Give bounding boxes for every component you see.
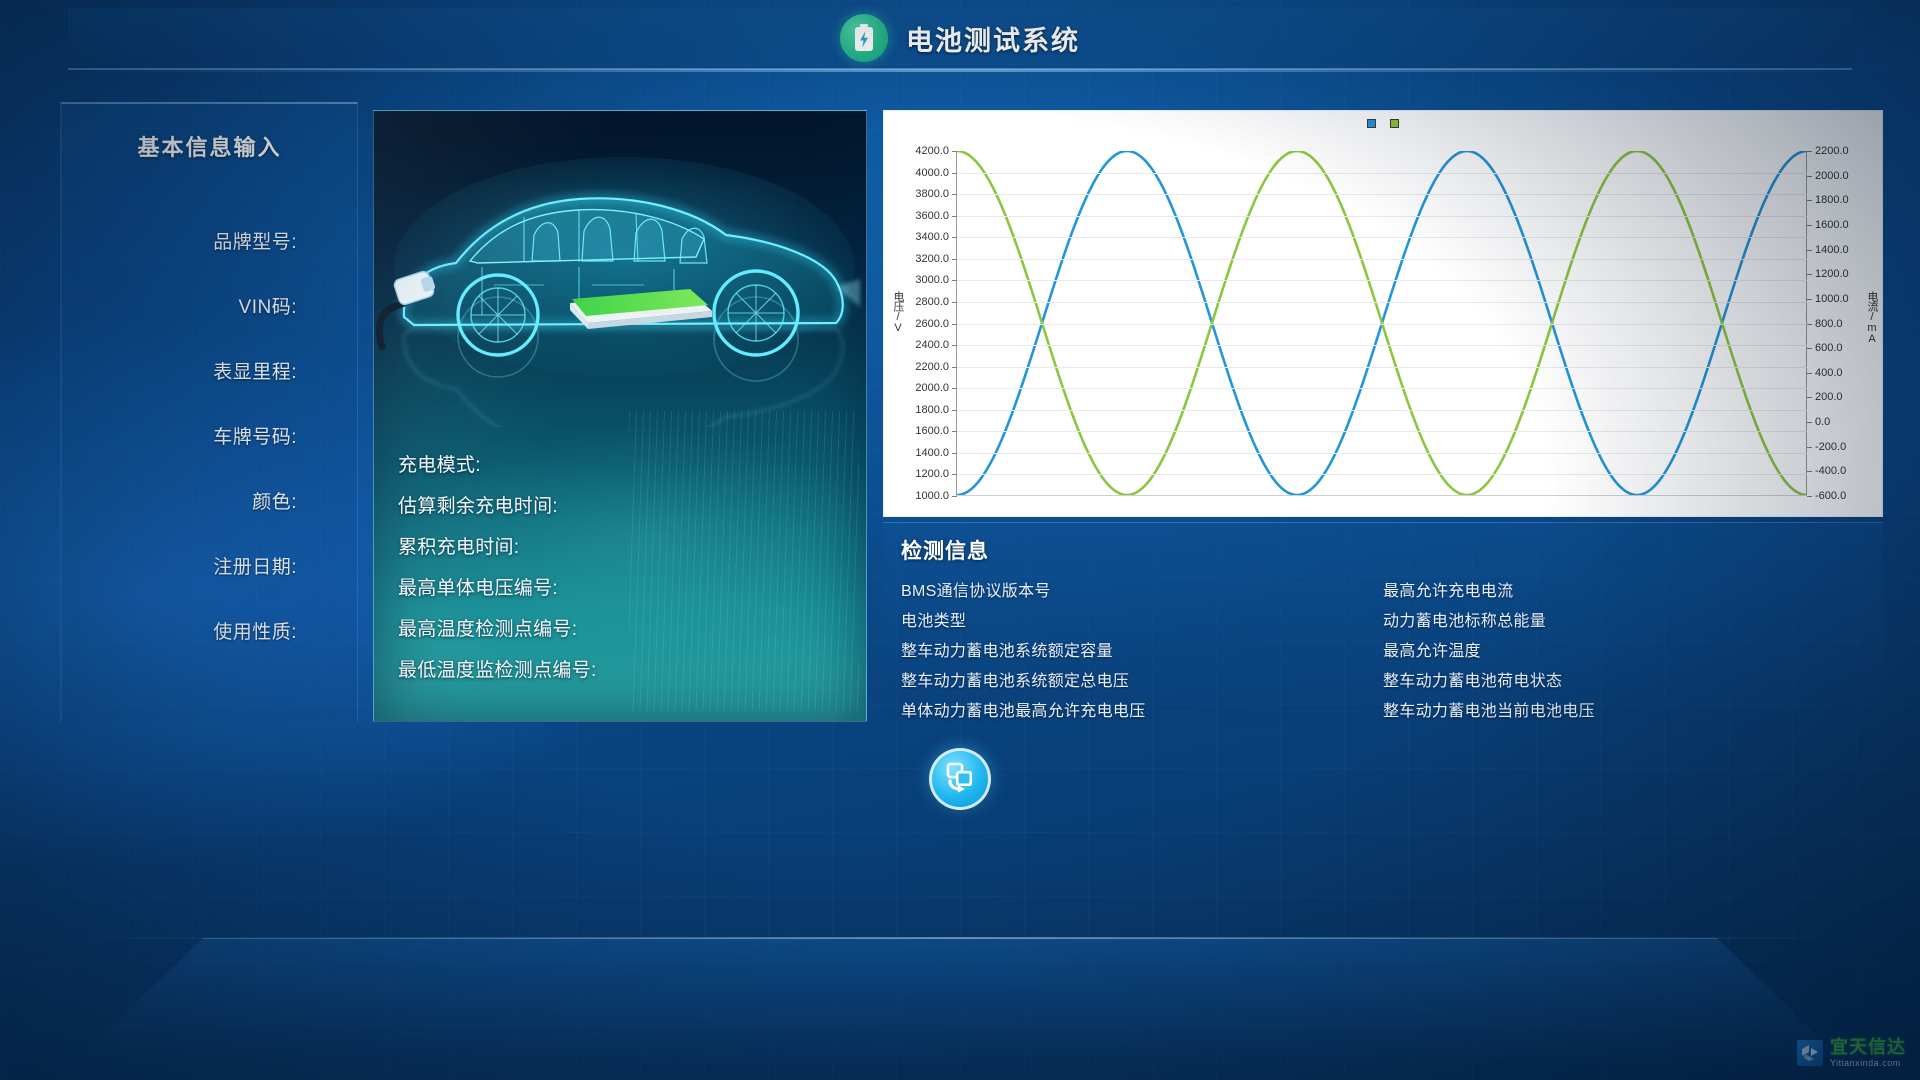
chart-right-tick-label: 1800.0 (1815, 194, 1849, 206)
info-item-max-cell-charge-voltage[interactable]: 单体动力蓄电池最高允许充电电压 (901, 697, 1383, 727)
chart-tick-mark (1807, 422, 1812, 423)
field-label-cumulative-charge-time: 累积充电时间: (398, 532, 519, 559)
chart-left-tick-label: 2800.0 (915, 296, 949, 308)
chart-gridline (957, 216, 1807, 217)
deck-highlight-line (65, 937, 1855, 939)
field-label-remaining-charge-time: 估算剩余充电时间: (398, 491, 558, 518)
chart-tick-mark (1807, 397, 1812, 398)
chart-gridline (957, 474, 1807, 475)
chart-tick-mark (1807, 225, 1812, 226)
chart-right-tick-label: 200.0 (1815, 391, 1843, 403)
detection-info-title: 检测信息 (901, 535, 1865, 565)
field-label-vin: VIN码: (239, 292, 297, 319)
chart-right-tick-label: 400.0 (1815, 367, 1843, 379)
field-label-brand-model: 品牌型号: (213, 227, 297, 254)
field-row-brand-model[interactable]: 品牌型号: (62, 208, 297, 273)
chart-gridline (957, 194, 1807, 195)
chart-left-tick-label: 3400.0 (915, 231, 949, 243)
field-row-registration-date[interactable]: 注册日期: (62, 533, 297, 598)
chart-right-tick-label: -600.0 (1815, 490, 1846, 502)
info-item-state-of-charge[interactable]: 整车动力蓄电池荷电状态 (1383, 667, 1865, 697)
chart-plot-wrapper: 电压/V 电流/mA 4200.04000.03800.03600.03400.… (884, 141, 1882, 510)
switch-view-button[interactable] (929, 748, 991, 810)
basic-info-panel: 基本信息输入 品牌型号: VIN码: 表显里程: 车牌号码: 颜色: 注册日期:… (60, 102, 358, 722)
chart-tick-mark (952, 496, 957, 497)
field-label-max-cell-voltage-id: 最高单体电压编号: (398, 573, 558, 600)
chart-left-tick-label: 2000.0 (915, 382, 949, 394)
info-item-rated-total-voltage[interactable]: 整车动力蓄电池系统额定总电压 (901, 667, 1383, 697)
field-label-plate-number: 车牌号码: (213, 422, 297, 449)
chart-right-tick-label: 1400.0 (1815, 244, 1849, 256)
field-label-color: 颜色: (252, 487, 297, 514)
chart-plot-area[interactable] (956, 151, 1807, 496)
chart-legend[interactable] (1367, 119, 1399, 128)
field-label-charge-mode: 充电模式: (398, 450, 481, 477)
basic-info-field-list: 品牌型号: VIN码: 表显里程: 车牌号码: 颜色: 注册日期: 使用性质: (62, 208, 357, 663)
chart-left-tick-label: 3600.0 (915, 210, 949, 222)
chart-tick-mark (1807, 299, 1812, 300)
chart-left-tick-label: 1800.0 (915, 404, 949, 416)
chart-tick-mark (1807, 447, 1812, 448)
detection-info-panel: 检测信息 BMS通信协议版本号 电池类型 整车动力蓄电池系统额定容量 整车动力蓄… (883, 522, 1883, 722)
legend-swatch-blue[interactable] (1367, 119, 1376, 128)
field-label-usage-type: 使用性质: (213, 617, 297, 644)
chart-tick-mark (1807, 274, 1812, 275)
field-label-registration-date: 注册日期: (213, 552, 297, 579)
chart-gridline (957, 367, 1807, 368)
chart-gridline (957, 173, 1807, 174)
chart-left-tick-label: 4000.0 (915, 167, 949, 179)
chart-left-tick-label: 3800.0 (915, 188, 949, 200)
chart-tick-mark (1807, 324, 1812, 325)
chart-gridline (957, 237, 1807, 238)
chart-right-tick-label: 1600.0 (1815, 219, 1849, 231)
chart-tick-mark (1807, 200, 1812, 201)
voltage-current-chart: 电压/V 电流/mA 4200.04000.03800.03600.03400.… (883, 110, 1883, 517)
chart-left-tick-label: 2600.0 (915, 318, 949, 330)
bottom-deck (0, 850, 1920, 1080)
switch-windows-icon (943, 760, 977, 799)
chart-gridline (957, 345, 1807, 346)
field-label-min-temp-probe-id: 最低温度监检测点编号: (398, 655, 597, 682)
yitianxinda-logo-icon (1797, 1040, 1823, 1066)
chart-right-tick-label: 800.0 (1815, 318, 1843, 330)
chart-gridline (957, 259, 1807, 260)
chart-gridline (957, 302, 1807, 303)
field-label-odometer: 表显里程: (213, 357, 297, 384)
battery-bolt-icon (840, 14, 888, 62)
chart-right-axis-title: 电流/mA (1864, 291, 1880, 344)
watermark: 宜天信达 Yitianxinda.com (1797, 1038, 1906, 1068)
chart-right-tick-label: 2000.0 (1815, 170, 1849, 182)
chart-right-tick-label: -400.0 (1815, 465, 1846, 477)
chart-right-tick-label: 2200.0 (1815, 145, 1849, 157)
chart-left-tick-label: 2200.0 (915, 361, 949, 373)
chart-left-tick-label: 1000.0 (915, 490, 949, 502)
field-row-max-temp-probe-id[interactable]: 最高温度检测点编号: (398, 607, 854, 648)
chart-gridline (957, 280, 1807, 281)
detection-info-left-column: BMS通信协议版本号 电池类型 整车动力蓄电池系统额定容量 整车动力蓄电池系统额… (901, 577, 1383, 727)
chart-tick-mark (952, 151, 957, 152)
chart-tick-mark (1807, 250, 1812, 251)
chart-gridline (957, 388, 1807, 389)
info-item-max-charge-current[interactable]: 最高允许充电电流 (1383, 577, 1865, 607)
info-item-rated-capacity[interactable]: 整车动力蓄电池系统额定容量 (901, 637, 1383, 667)
chart-tick-mark (1807, 496, 1812, 497)
app-header: 电池测试系统 (68, 8, 1852, 70)
chart-tick-mark (1807, 471, 1812, 472)
field-row-usage-type[interactable]: 使用性质: (62, 598, 297, 663)
detection-info-right-column: 最高允许充电电流 动力蓄电池标称总能量 最高允许温度 整车动力蓄电池荷电状态 整… (1383, 577, 1865, 727)
field-row-charge-mode[interactable]: 充电模式: (398, 443, 854, 484)
chart-left-axis-title: 电压/V (890, 291, 906, 333)
watermark-chinese-text: 宜天信达 (1830, 1038, 1906, 1056)
basic-info-title: 基本信息输入 (62, 130, 357, 162)
field-row-vin[interactable]: VIN码: (62, 273, 297, 338)
field-row-min-temp-probe-id[interactable]: 最低温度监检测点编号: (398, 648, 854, 689)
field-row-plate-number[interactable]: 车牌号码: (62, 403, 297, 468)
chart-left-tick-label: 3200.0 (915, 253, 949, 265)
chart-left-tick-label: 1600.0 (915, 425, 949, 437)
chart-tick-mark (1807, 373, 1812, 374)
charging-status-panel: 充电模式: 估算剩余充电时间: 累积充电时间: 最高单体电压编号: 最高温度检测… (373, 110, 867, 722)
field-row-color[interactable]: 颜色: (62, 468, 297, 533)
page-title: 电池测试系统 (906, 19, 1080, 58)
chart-tick-mark (1807, 348, 1812, 349)
chart-gridline (957, 431, 1807, 432)
info-item-battery-type[interactable]: 电池类型 (901, 607, 1383, 637)
chart-right-tick-label: 1200.0 (1815, 268, 1849, 280)
watermark-domain-text: Yitianxinda.com (1830, 1059, 1906, 1068)
chart-left-tick-label: 1400.0 (915, 447, 949, 459)
info-item-current-pack-voltage[interactable]: 整车动力蓄电池当前电池电压 (1383, 697, 1865, 727)
ev-car-xray-charging-illustration (374, 111, 866, 431)
chart-gridline (957, 324, 1807, 325)
field-label-max-temp-probe-id: 最高温度检测点编号: (398, 614, 577, 641)
chart-gridline (957, 453, 1807, 454)
chart-right-tick-label: 0.0 (1815, 416, 1830, 428)
field-row-odometer[interactable]: 表显里程: (62, 338, 297, 403)
chart-right-tick-label: 1000.0 (1815, 293, 1849, 305)
field-row-remaining-charge-time[interactable]: 估算剩余充电时间: (398, 484, 854, 525)
deck-surface (80, 938, 1840, 1058)
chart-right-tick-label: 600.0 (1815, 342, 1843, 354)
field-row-max-cell-voltage-id[interactable]: 最高单体电压编号: (398, 566, 854, 607)
legend-swatch-green[interactable] (1390, 119, 1399, 128)
chart-left-tick-label: 2400.0 (915, 339, 949, 351)
field-row-cumulative-charge-time[interactable]: 累积充电时间: (398, 525, 854, 566)
chart-gridline (957, 410, 1807, 411)
info-item-nominal-total-energy[interactable]: 动力蓄电池标称总能量 (1383, 607, 1865, 637)
chart-left-tick-label: 4200.0 (915, 145, 949, 157)
info-item-max-temperature[interactable]: 最高允许温度 (1383, 637, 1865, 667)
chart-right-tick-label: -200.0 (1815, 441, 1846, 453)
info-item-bms-protocol-version[interactable]: BMS通信协议版本号 (901, 577, 1383, 607)
chart-tick-mark (1807, 151, 1812, 152)
chart-left-tick-label: 1200.0 (915, 468, 949, 480)
chart-left-tick-label: 3000.0 (915, 274, 949, 286)
charging-field-list: 充电模式: 估算剩余充电时间: 累积充电时间: 最高单体电压编号: 最高温度检测… (398, 443, 854, 689)
chart-tick-mark (1807, 176, 1812, 177)
